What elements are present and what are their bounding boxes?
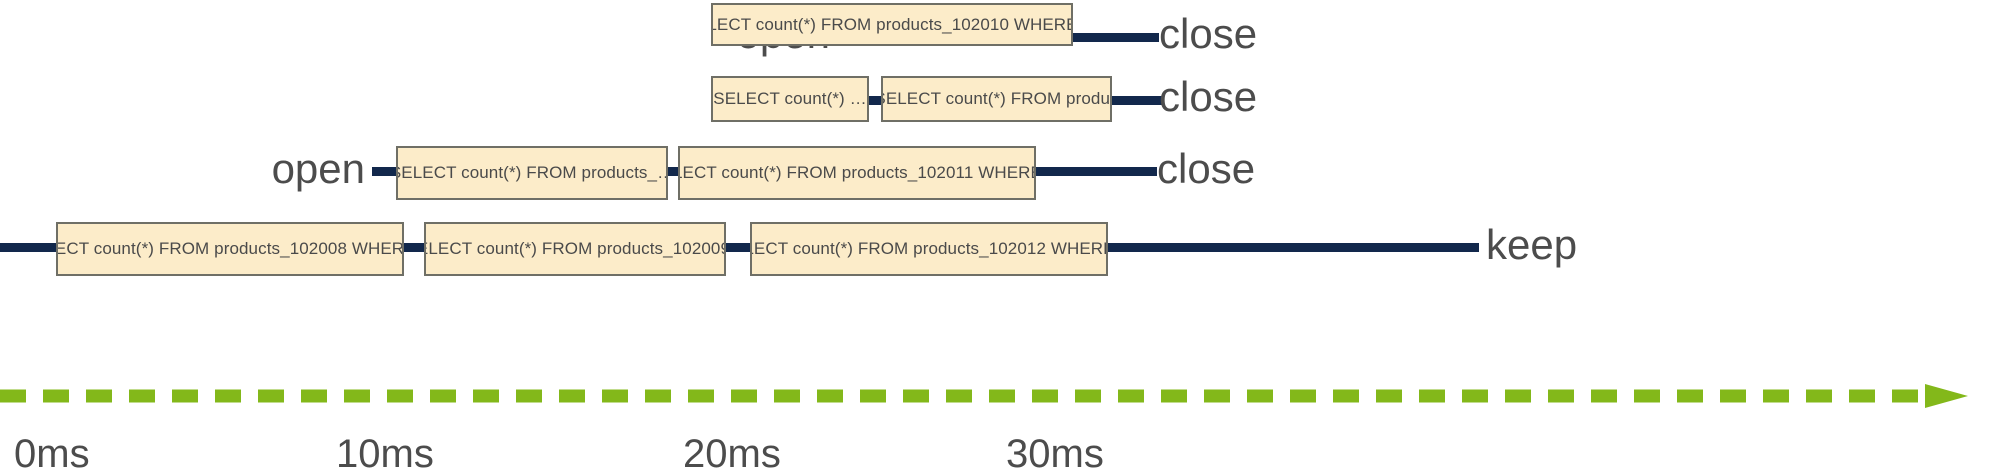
connection-line-segment — [0, 243, 62, 252]
axis-tick-label-20ms: 20ms — [683, 434, 781, 474]
query-text: SELECT count(*) FROM products_… — [396, 163, 668, 183]
lane-close-label: close — [1159, 13, 1459, 55]
query-text: SELECT count(*) FROM produc — [881, 89, 1112, 109]
time-axis-arrow — [0, 382, 2000, 416]
time-arrow-svg — [0, 382, 2000, 416]
query-box[interactable]: SELECT count(*) FROM products_102010 WHE… — [711, 3, 1073, 46]
lane-close-label: close — [1159, 76, 1459, 118]
query-box[interactable]: SELECT count(*) FROM products_102008 WHE… — [56, 222, 404, 276]
query-text: SELECT count(*) FROM products_102008 WHE… — [56, 239, 404, 259]
query-box[interactable]: SELECT count(*) FROM products_… — [396, 146, 668, 200]
connection-line-segment — [1069, 33, 1159, 42]
time-arrow-head — [1925, 384, 1968, 408]
axis-tick-label-0ms: 0ms — [14, 434, 90, 474]
axis-tick-label-30ms: 30ms — [1006, 434, 1104, 474]
connection-line-segment — [1104, 243, 1479, 252]
query-box[interactable]: SELECT count(*) FROM produc — [881, 76, 1112, 122]
query-box[interactable]: SELECT count(*) … — [711, 76, 869, 122]
query-box[interactable]: SELECT count(*) FROM products_102012 WHE… — [750, 222, 1108, 276]
query-box[interactable]: SELECT count(*) FROM products_102009 .. — [424, 222, 726, 276]
connection-timeline-diagram: open SELECT count(*) FROM products_10201… — [0, 0, 2000, 476]
lane-open-label: open — [110, 148, 365, 190]
lane-keep-label: keep — [1486, 224, 1886, 266]
query-text: SELECT count(*) … — [711, 89, 869, 109]
connection-line-segment — [1112, 96, 1162, 105]
query-box[interactable]: SELECT count(*) FROM products_102011 WHE… — [678, 146, 1036, 200]
lane-close-label: close — [1157, 148, 1457, 190]
query-text: SELECT count(*) FROM products_102010 WHE… — [711, 15, 1073, 35]
query-text: SELECT count(*) FROM products_102009 .. — [424, 239, 726, 259]
axis-tick-label-10ms: 10ms — [336, 434, 434, 474]
connection-line-segment — [1032, 167, 1157, 176]
query-text: SELECT count(*) FROM products_102011 WHE… — [678, 163, 1036, 183]
query-text: SELECT count(*) FROM products_102012 WHE… — [750, 239, 1108, 259]
